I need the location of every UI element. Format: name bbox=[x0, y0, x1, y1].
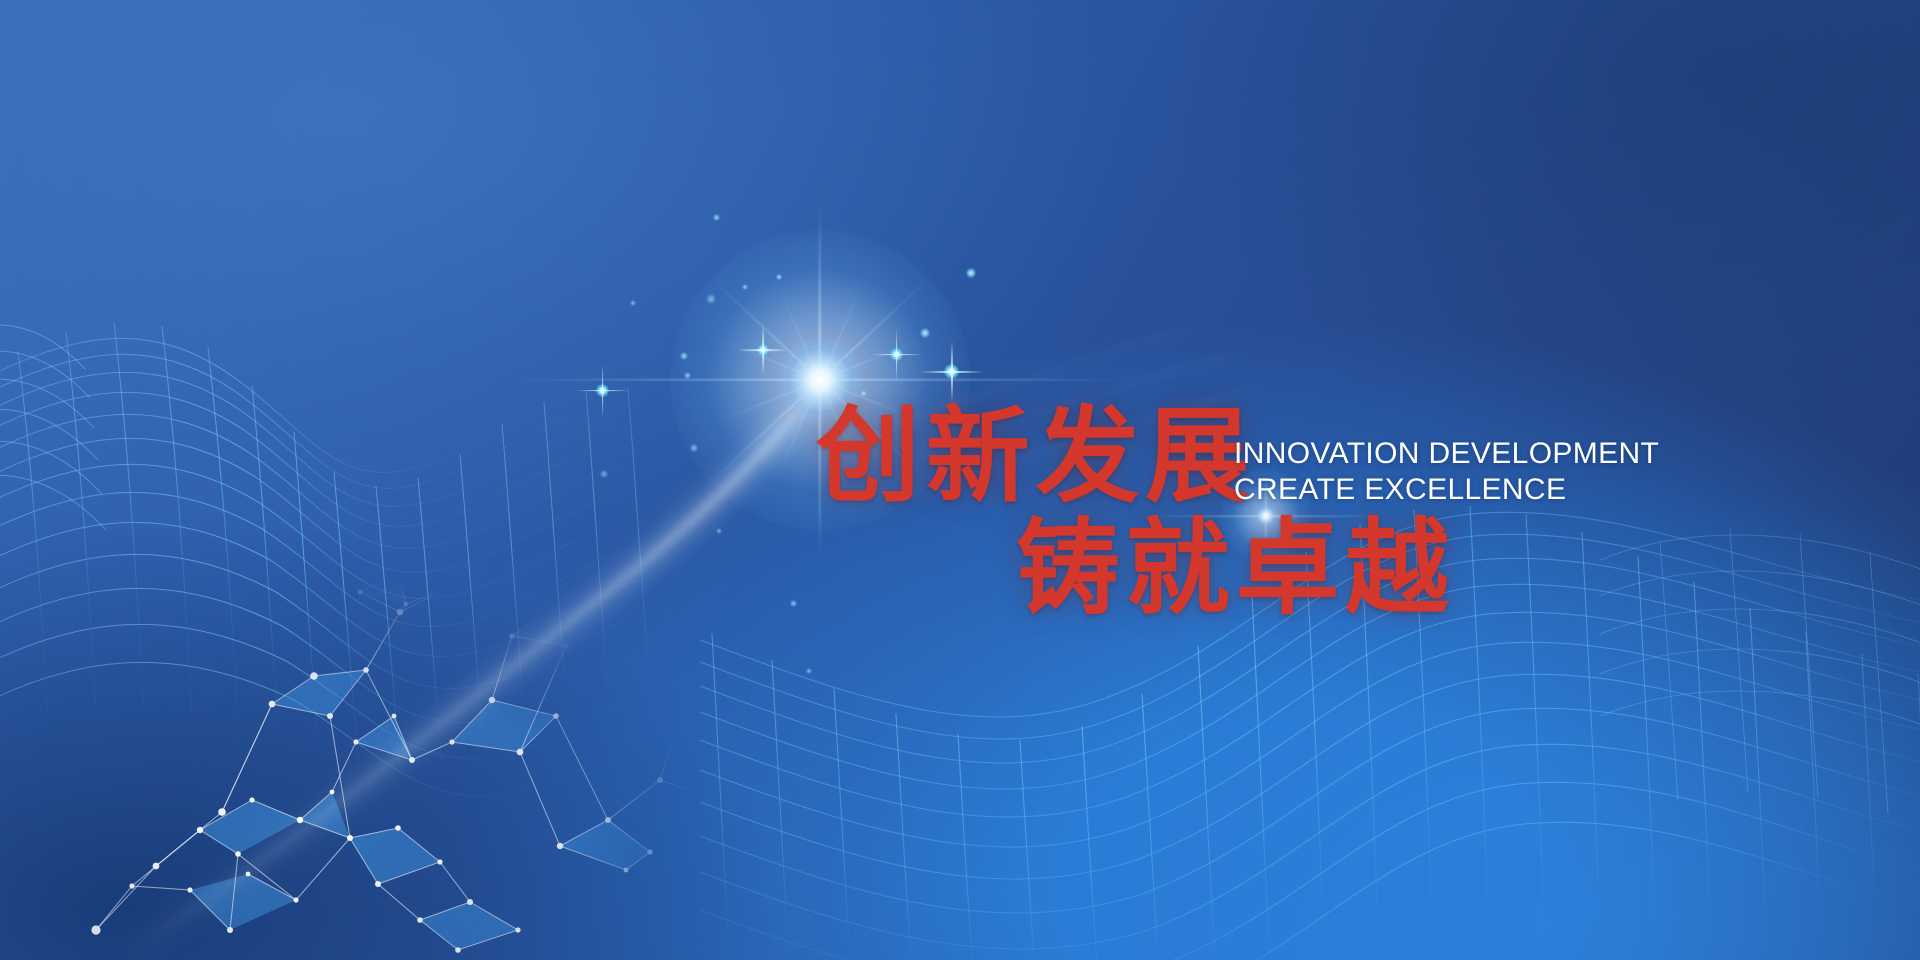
sparkle-dot bbox=[776, 274, 782, 280]
sparkle-dot bbox=[966, 268, 976, 278]
hero-banner: 创新发展 铸就卓越 INNOVATION DEVELOPMENT CREATE … bbox=[0, 0, 1920, 960]
headline-chinese-line-1: 创新发展 bbox=[816, 404, 1255, 508]
sparkle-star bbox=[757, 344, 769, 356]
sparkle-dot bbox=[742, 284, 748, 290]
sparkle-dot bbox=[713, 214, 720, 221]
sparkle-dot bbox=[690, 444, 698, 452]
subhead-english-line-1: INNOVATION DEVELOPMENT bbox=[1234, 437, 1659, 471]
sparkle-dot bbox=[684, 372, 691, 379]
sparkle-star bbox=[596, 384, 609, 397]
sparkle-dot bbox=[630, 300, 636, 306]
sparkle-star bbox=[944, 364, 959, 379]
sparkle-dot bbox=[806, 668, 812, 674]
sparkle-dot bbox=[790, 600, 797, 607]
headline-chinese-line-2: 铸就卓越 bbox=[1016, 516, 1455, 620]
sparkle-star bbox=[890, 348, 903, 361]
comet-trail-core bbox=[120, 386, 818, 960]
sparkle-dot bbox=[706, 294, 716, 304]
comet-trail-glow bbox=[120, 386, 818, 960]
subhead-english-line-2: CREATE EXCELLENCE bbox=[1234, 473, 1566, 507]
sparkle-dot bbox=[716, 528, 722, 534]
sparkle-dot bbox=[600, 470, 608, 478]
sparkle-dot bbox=[680, 352, 688, 360]
sparkle-dot bbox=[920, 328, 930, 338]
